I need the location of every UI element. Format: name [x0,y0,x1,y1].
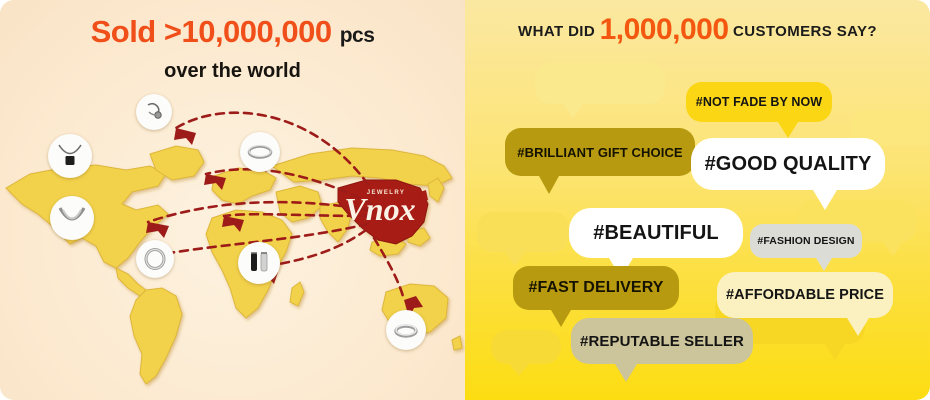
testimonial-bubble-brilliant-gift[interactable]: #BRILLIANT GIFT CHOICE [505,128,695,176]
ring-badge [386,310,426,350]
pendant-necklace-badge [48,134,92,178]
bubble-tail [778,122,798,138]
chain-necklace-badge [50,196,94,240]
testimonial-bubble-reputable-seller[interactable]: #REPUTABLE SELLER [571,318,753,364]
pendant-necklace-icon [53,139,87,173]
bubble-tail [509,364,529,376]
right-panel-testimonials: WHAT DID 1,000,000 CUSTOMERS SAY? #NOT F… [465,0,930,400]
testimonial-bubble-fast-delivery[interactable]: #FAST DELIVERY [513,266,679,310]
bubble-label: #FAST DELIVERY [528,280,663,296]
sold-headline: Sold >10,000,000 pcs [0,14,465,50]
bubble-label: #GOOD QUALITY [705,154,872,174]
bubble-tail [816,258,832,271]
svg-text:Vnox: Vnox [344,191,415,227]
testimonial-bubble-affordable-price[interactable]: #AFFORDABLE PRICE [717,272,893,318]
bubble-label: #BRILLIANT GIFT CHOICE [517,146,682,159]
bubble-tail [505,252,525,266]
ring-icon [391,315,421,345]
sold-headline-count: Sold >10,000,000 [91,14,332,49]
decorative-bubble [491,330,561,364]
header-text-before: WHAT DID [518,23,595,40]
sold-headline-unit: pcs [340,24,375,47]
bubble-label: #BEAUTIFUL [593,223,718,243]
header-text-after: CUSTOMERS SAY? [733,23,877,40]
bubble-tail [615,364,637,382]
left-panel-world-map: Sold >10,000,000 pcs over the world [0,0,465,400]
bracelet-icon [141,245,169,273]
chain-necklace-icon [55,201,89,235]
bubble-tail [847,318,869,336]
bubble-label: #AFFORDABLE PRICE [726,288,884,303]
testimonial-bubble-good-quality[interactable]: #GOOD QUALITY [691,138,885,190]
map-landmasses [6,146,462,384]
header-customer-count: 1,000,000 [600,13,729,46]
bubble-label: #REPUTABLE SELLER [580,334,744,349]
testimonials-header: WHAT DID 1,000,000 CUSTOMERS SAY? [465,13,930,47]
promo-banner: Sold >10,000,000 pcs over the world [0,0,930,400]
bubble-label: #NOT FADE BY NOW [696,96,822,109]
testimonial-bubble-not-fade[interactable]: #NOT FADE BY NOW [686,82,832,122]
decorative-bubble [477,212,569,252]
bubble-tail [813,190,837,210]
bubble-tail [551,310,571,327]
bubble-tail [825,344,845,360]
bubble-tail [883,242,903,256]
testimonial-bubble-fashion-design[interactable]: #FASHION DESIGN [750,224,862,258]
decorative-bubble [535,62,665,104]
world-map: JEWELRY Vnox [0,92,465,392]
earrings-icon [141,99,167,125]
sold-subheadline: over the world [0,60,465,83]
cufflinks-badge [238,242,280,284]
bracelet-badge [136,240,174,278]
bubble-label: #FASHION DESIGN [757,236,854,247]
bangle-badge [240,132,280,172]
cufflinks-icon [243,247,275,279]
bangle-icon [245,137,275,167]
testimonial-bubble-beautiful[interactable]: #BEAUTIFUL [569,208,743,258]
bubble-tail [539,176,559,194]
bubble-tail [563,104,583,118]
vnox-brand-logo: JEWELRY Vnox [344,190,415,227]
earrings-badge [136,94,172,130]
